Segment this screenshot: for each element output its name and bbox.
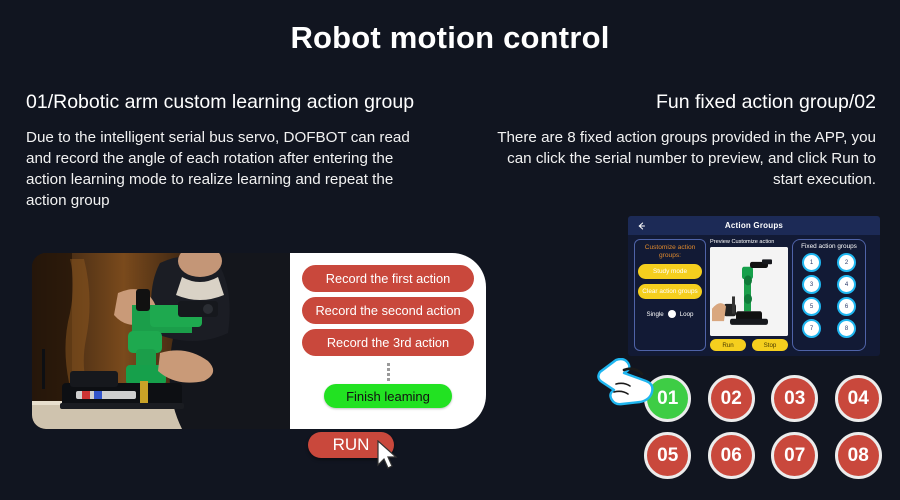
preview-panel-label: Preview Customize action xyxy=(710,239,788,245)
study-mode-button[interactable]: Study mode xyxy=(638,264,702,279)
preview-panel: Preview Customize action xyxy=(710,239,788,351)
action-group-badge-06[interactable]: 06 xyxy=(708,432,755,479)
preview-controls: Run Stop xyxy=(710,339,788,351)
app-header: Action Groups xyxy=(628,216,880,235)
fixed-action-8[interactable]: 8 xyxy=(837,319,856,338)
preview-robot-image xyxy=(710,247,788,336)
fixed-action-1[interactable]: 1 xyxy=(802,253,821,272)
clear-action-groups-button[interactable]: Clear action groups xyxy=(638,284,702,299)
right-section-body: There are 8 fixed action groups provided… xyxy=(496,127,876,190)
mode-toggle-knob[interactable] xyxy=(668,310,676,318)
fixed-action-6[interactable]: 6 xyxy=(837,297,856,316)
page-title: Robot motion control xyxy=(0,20,900,56)
mode-toggle-row[interactable]: Single Loop xyxy=(647,310,694,318)
action-group-badges: 01 02 03 04 05 06 07 08 xyxy=(643,375,883,479)
arrow-cursor-icon xyxy=(376,440,398,470)
fixed-action-grid: 1 2 3 4 5 6 7 8 xyxy=(797,253,861,338)
fixed-panel-title: Fixed action groups xyxy=(797,243,861,250)
record-second-action-button[interactable]: Record the second action xyxy=(302,297,474,324)
app-stop-button[interactable]: Stop xyxy=(752,339,788,351)
action-group-badge-07[interactable]: 07 xyxy=(771,432,818,479)
finish-learning-button[interactable]: Finish leaming xyxy=(324,384,452,408)
pointing-hand-icon xyxy=(594,358,654,414)
fixed-action-2[interactable]: 2 xyxy=(837,253,856,272)
left-section-heading: 01/Robotic arm custom learning action gr… xyxy=(26,91,414,114)
slide-canvas: Robot motion control 01/Robotic arm cust… xyxy=(0,0,900,500)
app-run-button[interactable]: Run xyxy=(710,339,746,351)
app-header-title: Action Groups xyxy=(725,221,783,230)
mode-single-label: Single xyxy=(647,311,664,318)
preview-robot-illustration xyxy=(710,247,788,336)
action-group-badge-03[interactable]: 03 xyxy=(771,375,818,422)
fixed-action-4[interactable]: 4 xyxy=(837,275,856,294)
customize-action-panel: Customize action groups: Study mode Clea… xyxy=(634,239,706,351)
back-arrow-icon[interactable] xyxy=(637,221,646,230)
fixed-action-5[interactable]: 5 xyxy=(802,297,821,316)
record-third-action-button[interactable]: Record the 3rd action xyxy=(302,329,474,356)
record-actions-card: Record the first action Record the secon… xyxy=(290,253,486,429)
app-body: Customize action groups: Study mode Clea… xyxy=(628,235,880,356)
app-screenshot-mock: Action Groups Customize action groups: S… xyxy=(628,216,880,356)
action-group-badge-05[interactable]: 05 xyxy=(644,432,691,479)
action-group-badge-08[interactable]: 08 xyxy=(835,432,882,479)
fixed-action-7[interactable]: 7 xyxy=(802,319,821,338)
mode-loop-label: Loop xyxy=(680,311,694,318)
left-section-body: Due to the intelligent serial bus servo,… xyxy=(26,127,436,211)
action-group-badge-04[interactable]: 04 xyxy=(835,375,882,422)
customize-panel-title: Customize action groups: xyxy=(639,244,701,260)
fixed-action-3[interactable]: 3 xyxy=(802,275,821,294)
fixed-action-groups-panel: Fixed action groups 1 2 3 4 5 6 7 8 xyxy=(792,239,866,351)
photo-illustration xyxy=(32,253,294,429)
robot-arm-photo xyxy=(32,253,294,429)
right-section-heading: Fun fixed action group/02 xyxy=(656,91,876,114)
record-first-action-button[interactable]: Record the first action xyxy=(302,265,474,292)
action-group-badge-02[interactable]: 02 xyxy=(708,375,755,422)
vertical-dots-icon xyxy=(387,363,390,381)
